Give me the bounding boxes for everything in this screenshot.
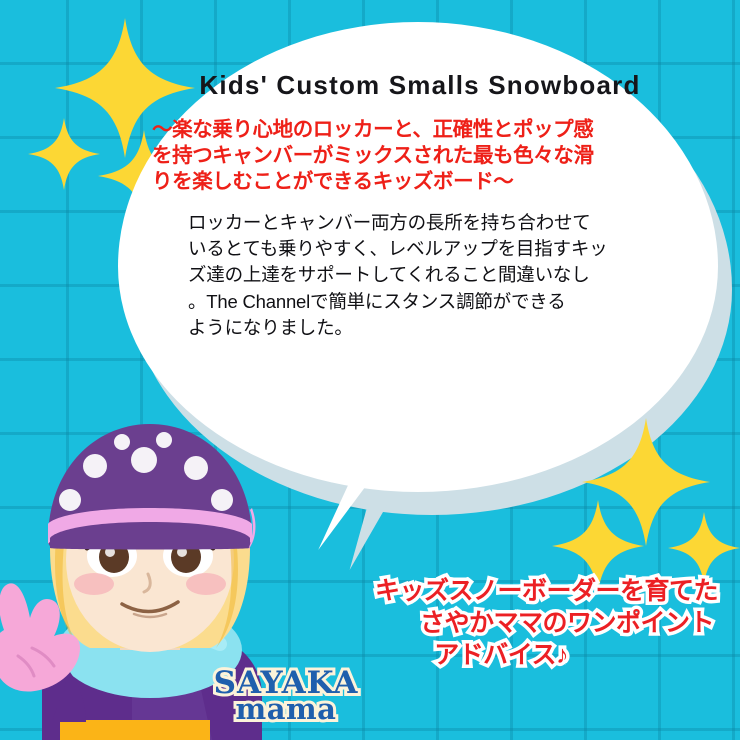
body-line-5: ようになりました。 <box>188 315 652 341</box>
sayaka-mama-logo: SAYAKA mama <box>196 668 376 734</box>
callout-line-1: キッズスノーボーダーを育てた <box>318 576 718 608</box>
body-line-4: 。The Channelで簡単にスタンス調節ができる <box>188 289 652 315</box>
lead-line-3: りを楽しむことができるキッズボード〜 <box>152 169 672 195</box>
page-title: Kids' Custom Smalls Snowboard <box>140 70 700 101</box>
lead-paragraph: 〜楽な乗り心地のロッカーと、正確性とポップ感 を持つキャンバーがミックスされた最… <box>140 117 700 196</box>
callout-line-3: アドバイス♪ <box>318 640 718 672</box>
body-line-1: ロッカーとキャンバー両方の長所を持ち合わせて <box>188 210 652 236</box>
star-small-bottom-right <box>668 512 740 584</box>
lead-line-2: を持つキャンバーがミックスされた最も色々な滑 <box>152 143 672 169</box>
bubble-content: Kids' Custom Smalls Snowboard 〜楽な乗り心地のロッ… <box>140 70 700 420</box>
body-paragraph: ロッカーとキャンバー両方の長所を持ち合わせて いるとても乗りやすく、レベルアップ… <box>140 210 700 341</box>
lead-line-1: 〜楽な乗り心地のロッカーと、正確性とポップ感 <box>152 117 672 143</box>
body-line-3: ズ達の上達をサポートしてくれること間違いなし <box>188 262 652 288</box>
callout-text: キッズスノーボーダーを育てた さやかママのワンポイント アドバイス♪ <box>318 576 718 671</box>
body-line-2: いるとても乗りやすく、レベルアップを目指すキッ <box>188 236 652 262</box>
star-small-left <box>28 118 100 190</box>
callout-line-2: さやかママのワンポイント <box>318 608 718 640</box>
infographic-canvas: Kids' Custom Smalls Snowboard 〜楽な乗り心地のロッ… <box>0 0 740 740</box>
